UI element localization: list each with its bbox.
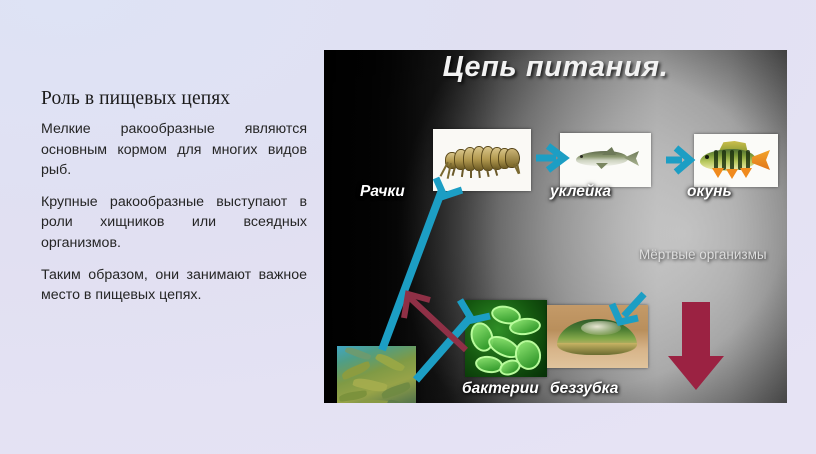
food-chain-figure: Цепь питания.: [324, 50, 787, 403]
dead-organism-arrows: [324, 50, 787, 403]
slide-canvas: Роль в пищевых цепях Мелкие ракообразные…: [0, 0, 816, 454]
page-title: Роль в пищевых цепях: [41, 86, 307, 112]
down-arrow-dead-organisms: [668, 302, 724, 390]
body-paragraph-1: Мелкие ракообразные являются основным ко…: [41, 119, 307, 181]
body-paragraph-2: Крупные ракообразные выступают в роли хи…: [41, 192, 307, 254]
body-paragraph-3: Таким образом, они занимают важное место…: [41, 265, 307, 306]
text-content-block: Роль в пищевых цепях Мелкие ракообразные…: [41, 86, 307, 306]
